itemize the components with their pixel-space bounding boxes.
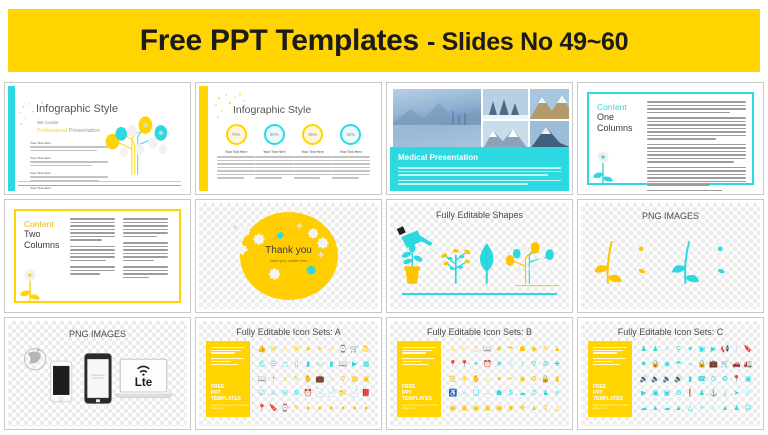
star-icon[interactable]: ✧ xyxy=(699,405,705,412)
camera-icon[interactable]: ◉ xyxy=(508,405,514,412)
slide-thumbnail-02[interactable]: Infographic Style 75% Your Text Here 60%… xyxy=(195,82,382,195)
megaphone-icon[interactable]: 📢 xyxy=(721,346,730,353)
png-flower-assets xyxy=(581,203,760,308)
slide-subtitle-line1: We Create xyxy=(37,120,58,125)
slide-title: Thank you xyxy=(265,245,312,256)
smiley-icon[interactable]: ● xyxy=(306,405,310,412)
thermometer-icon[interactable]: ☃ xyxy=(508,361,514,368)
slide-heading: Content One Columns xyxy=(597,102,633,134)
ground-line xyxy=(402,293,557,295)
mountain2-icon[interactable]: △ xyxy=(688,405,693,412)
gear-icon[interactable]: ⚙ xyxy=(293,390,299,397)
stat-item: 85% Your Text Here xyxy=(294,124,332,181)
glove-icon[interactable]: ✋ xyxy=(472,376,481,383)
panel-brand: FREE PPT TEMPLATES www.free-powerpoint-t… xyxy=(402,384,441,410)
youtube-icon[interactable]: ▣ xyxy=(496,405,503,412)
truck-icon[interactable]: 🚛 xyxy=(744,361,753,368)
briefcase-icon[interactable]: 💼 xyxy=(315,376,324,383)
smiley5-icon[interactable]: ● xyxy=(352,405,356,412)
rocky-peak-photo xyxy=(530,89,569,119)
cloud-icon[interactable]: ☁ xyxy=(640,405,647,412)
eye-icon[interactable]: ◉ xyxy=(531,346,537,353)
file-icon[interactable]: 📄 xyxy=(315,390,324,397)
server-icon[interactable]: ☰ xyxy=(270,361,276,368)
progress-ring: 85% xyxy=(302,124,323,145)
stat-caption: Your Text Here xyxy=(332,150,370,154)
brush2-icon[interactable]: ❑ xyxy=(473,390,479,397)
thumbs-up-icon[interactable]: 👍 xyxy=(257,346,266,353)
video2-icon[interactable]: ▣ xyxy=(652,390,659,397)
snowflake-icon[interactable]: ❄ xyxy=(461,376,467,383)
heading-line2: Two xyxy=(24,229,60,240)
potted-plant-icon xyxy=(401,244,424,284)
brand-line-3: TEMPLATES xyxy=(593,396,632,402)
heading-key: Content xyxy=(24,219,60,229)
cart2-icon[interactable]: 🛒 xyxy=(721,361,730,368)
cart-icon[interactable]: 🛒 xyxy=(350,346,359,353)
panel-caption xyxy=(593,347,627,367)
dollar-icon[interactable]: $ xyxy=(509,390,513,397)
speaker-icon[interactable]: 🔊 xyxy=(639,376,648,383)
pin-icon[interactable]: 📍 xyxy=(732,376,741,383)
body-column-left xyxy=(70,218,115,277)
slide-thumbnail-09[interactable]: PNG IMAGES xyxy=(4,317,191,430)
slide-thumbnail-11[interactable]: Fully Editable Icon Sets: B FREE PPT TEM… xyxy=(386,317,573,430)
pinterest-icon[interactable]: ▣ xyxy=(461,405,468,412)
flower-decoration xyxy=(590,149,616,183)
stat-item: 75% Your Text Here xyxy=(217,124,255,181)
smiley3-icon[interactable]: ● xyxy=(329,405,333,412)
atom-icon[interactable]: ⚛ xyxy=(554,390,560,397)
screenshot-root: Free PPT Templates - Slides No 49~60 xyxy=(0,0,768,435)
clock-icon[interactable]: ⏰ xyxy=(483,361,492,368)
infographic-tree-icon xyxy=(506,242,554,284)
umbrella-icon[interactable]: ☂ xyxy=(508,346,514,353)
icon-grid: 👍✉⌂✉➤☀☺⌚🛒🛍 ⎙☰◻▯▮▭▮📖▶▦ 📖✝♫✎✋💼♘⚲▦▣ ☑⚔✉⚙⏰📄📄… xyxy=(256,343,372,416)
flag2-icon[interactable]: ⚐ xyxy=(745,390,751,397)
lock-icon[interactable]: 🔒 xyxy=(541,376,550,383)
instagram-icon[interactable]: ▣ xyxy=(484,405,491,412)
scissors-icon[interactable]: ✂ xyxy=(508,376,514,383)
cap-icon[interactable]: ⚔ xyxy=(270,390,276,397)
smiley4-icon[interactable]: ● xyxy=(341,405,345,412)
phone-icon[interactable]: ☎ xyxy=(697,376,706,383)
file-alt-icon[interactable]: 📄 xyxy=(327,390,336,397)
watering-can-icon xyxy=(397,227,439,254)
list-item: Your Text Here xyxy=(30,141,108,151)
male-icon[interactable]: ♂ xyxy=(664,346,669,353)
battery-icon[interactable]: ▮ xyxy=(329,361,333,368)
brand-panel: FREE PPT TEMPLATES www.free-powerpoint-t… xyxy=(397,341,441,417)
slide-thumbnail-12[interactable]: Fully Editable Icon Sets: C FREE PPT TEM… xyxy=(577,317,764,430)
photo-icon[interactable]: ▣ xyxy=(363,376,370,383)
play-icon[interactable]: ▶ xyxy=(641,390,646,397)
book-icon[interactable]: 📖 xyxy=(339,361,348,368)
music-note-icon[interactable]: ♫ xyxy=(282,376,287,383)
linkedin-icon[interactable]: ▣ xyxy=(449,405,456,412)
slide-title: Medical Presentation xyxy=(398,153,478,162)
stat-caption: Your Text Here xyxy=(255,150,293,154)
lamp-icon[interactable]: ☼ xyxy=(461,390,467,397)
black-smartphone xyxy=(84,353,111,403)
cyan-flower-stem xyxy=(672,241,699,284)
panel-brand: FREE PPT TEMPLATES www.free-powerpoint-t… xyxy=(211,384,250,410)
slide-subtitle: Insert your subtitle here xyxy=(265,259,312,263)
brand-panel: FREE PPT TEMPLATES www.free-powerpoint-t… xyxy=(588,341,632,417)
image-icon[interactable]: ▣ xyxy=(664,390,671,397)
body-column xyxy=(647,101,746,191)
search-icon[interactable]: ⚲ xyxy=(340,376,345,383)
people-icon[interactable]: ♟ xyxy=(652,346,658,353)
smiley2-icon[interactable]: ● xyxy=(318,405,322,412)
slide-thumbnail-08[interactable]: PNG IMAGES xyxy=(577,199,764,312)
circle-icon[interactable]: ○ xyxy=(711,405,715,412)
progress-ring: 60% xyxy=(264,124,285,145)
printer-icon[interactable]: ⎙ xyxy=(259,361,265,368)
camera-icon[interactable]: ▣ xyxy=(698,346,705,353)
slide-thumbnail-04[interactable]: Content One Columns xyxy=(577,82,764,195)
brand-line-3: TEMPLATES xyxy=(211,396,250,402)
thank-you-block: Thank you Insert your subtitle here xyxy=(265,245,312,263)
mobile-icon[interactable]: ▮ xyxy=(306,361,310,368)
brand-line-3: TEMPLATES xyxy=(402,396,441,402)
banner-title-main: Free PPT Templates xyxy=(140,24,419,57)
globe-icon xyxy=(24,347,45,369)
shield-icon[interactable]: ☗ xyxy=(496,390,502,397)
open-mail-icon[interactable]: ✉ xyxy=(294,346,300,353)
rocket2-icon[interactable]: ⤷ xyxy=(688,361,692,368)
leafy-tree-icon xyxy=(440,249,471,284)
trophy2-icon[interactable]: ⌚ xyxy=(281,405,290,412)
stat-caption: Your Text Here xyxy=(217,150,255,154)
link-icon[interactable]: ↔ xyxy=(484,390,491,397)
heading-line3: Columns xyxy=(24,240,60,251)
caption-text xyxy=(398,167,561,187)
list-item-title: Your Text Here xyxy=(30,186,108,190)
run-icon[interactable]: ☹ xyxy=(745,405,752,412)
slide-thumbnail-01[interactable]: Infographic Style We Create Professional… xyxy=(4,82,191,195)
triangle-icon[interactable]: △ xyxy=(555,405,560,412)
rocket-icon[interactable]: ❖ xyxy=(641,361,647,368)
pin-icon[interactable]: 📍 xyxy=(257,405,266,412)
speaker2-icon[interactable]: 🔉 xyxy=(663,376,672,383)
clock-icon[interactable]: ⏰ xyxy=(304,390,313,397)
stat-row: 75% Your Text Here 60% Your Text Here 85… xyxy=(217,124,370,181)
slide-heading: Content Two Columns xyxy=(24,219,60,251)
battery-icon[interactable]: ▮ xyxy=(555,376,559,383)
cone-tree-icon xyxy=(480,243,494,284)
caption-band: Medical Presentation xyxy=(390,147,569,191)
person3-icon[interactable]: ♟ xyxy=(733,405,739,412)
slide-thumbnail-06[interactable]: Thank you Insert your subtitle here xyxy=(195,199,382,312)
list-item-title: Your Text Here xyxy=(30,141,108,145)
brand-url: www.free-powerpoint-templates-design.com xyxy=(211,404,250,410)
lake-mountain-photo xyxy=(393,89,481,149)
body-column-right xyxy=(123,218,168,280)
cloud-icon[interactable]: ☁ xyxy=(519,390,526,397)
microphone-icon[interactable]: ✉ xyxy=(282,390,288,397)
balloon-icon[interactable]: ☺ xyxy=(328,346,335,353)
slide-title: Fully Editable Icon Sets: C xyxy=(581,327,760,337)
recycle-icon[interactable]: ♻ xyxy=(722,376,728,383)
tree-icon[interactable]: ▲ xyxy=(554,346,561,353)
dark-mountain-photo xyxy=(530,121,569,149)
white-smartphone xyxy=(51,361,72,402)
car-icon[interactable]: 🚗 xyxy=(732,361,741,368)
subtitle-rest: Presentation xyxy=(69,128,100,134)
download-icon[interactable]: ⤓ xyxy=(723,390,726,397)
briefcase-icon[interactable]: 💼 xyxy=(709,361,718,368)
brand-url: www.free-powerpoint-templates-design.com xyxy=(402,404,441,410)
send-icon[interactable]: ➤ xyxy=(305,346,311,353)
grid-icon[interactable]: ▦ xyxy=(351,376,358,383)
banner-title-sub: - Slides No 49~60 xyxy=(427,28,628,56)
info-icon[interactable]: ❗ xyxy=(686,390,695,397)
laptop-screen-label: Lte xyxy=(135,376,153,389)
arrow-icon[interactable]: ↕ xyxy=(521,361,525,368)
timer-icon[interactable]: ⏱ xyxy=(711,376,716,383)
tree-icon[interactable]: ▲ xyxy=(652,405,659,412)
tag-icon[interactable]: ▶ xyxy=(352,361,357,368)
slide-thumbnail-07[interactable]: Fully Editable Shapes xyxy=(386,199,573,312)
shirt-icon[interactable]: ♘ xyxy=(328,376,334,383)
panel-caption xyxy=(211,347,245,367)
stat-item: 60% Your Text Here xyxy=(255,124,293,181)
target-icon[interactable]: ◉ xyxy=(519,376,525,383)
list-item: Your Text Here xyxy=(30,186,108,191)
flag-icon[interactable]: ⚐ xyxy=(461,346,467,353)
tools-icon[interactable]: ✝ xyxy=(270,376,276,383)
bag-icon[interactable]: 🛍 xyxy=(448,376,457,383)
folder-icon[interactable]: 📁 xyxy=(339,390,348,397)
checklist-icon[interactable]: ☑ xyxy=(259,390,265,397)
key-icon[interactable]: ⚲ xyxy=(543,405,548,412)
slide-title: Fully Editable Icon Sets: A xyxy=(199,327,378,337)
tree3-icon[interactable]: ▲ xyxy=(722,405,729,412)
book-icon[interactable]: 📖 xyxy=(483,346,492,353)
flask-icon[interactable]: ♿ xyxy=(448,390,457,397)
compass-icon[interactable]: ▵ xyxy=(451,346,455,353)
person-icon[interactable]: ♟ xyxy=(542,390,548,397)
timer-icon[interactable]: ⏱ xyxy=(531,390,536,397)
slide-thumbnail-05[interactable]: Content Two Columns xyxy=(4,199,191,312)
pencil-icon[interactable]: ✎ xyxy=(294,405,300,412)
flower-decoration xyxy=(17,267,43,301)
slide-grid: Infographic Style We Create Professional… xyxy=(4,82,764,430)
person2-icon[interactable]: ♟ xyxy=(699,390,705,397)
bone-icon[interactable]: ❖ xyxy=(496,346,502,353)
subtitle-highlight: Professional xyxy=(37,128,67,134)
accent-bar xyxy=(199,86,208,191)
progress-ring: 75% xyxy=(226,124,247,145)
phone-case-icon[interactable]: ▭ xyxy=(316,361,323,368)
balloon-icon[interactable]: ☗ xyxy=(519,346,525,353)
laptop: Lte xyxy=(114,359,172,398)
slide-thumbnail-03[interactable]: Medical Presentation xyxy=(386,82,573,195)
banner-title: Free PPT Templates - Slides No 49~60 xyxy=(140,24,628,58)
pin-icon[interactable]: 📍 xyxy=(448,361,457,368)
hand-icon[interactable]: ✋ xyxy=(304,376,313,383)
trophy-icon[interactable]: ⌚ xyxy=(339,346,348,353)
white-flower-cyan xyxy=(712,241,729,275)
yellow-flower-stem xyxy=(595,241,622,284)
lock-icon[interactable]: 🔒 xyxy=(651,361,660,368)
list-item-title: Your Text Here xyxy=(30,156,108,160)
plus-icon[interactable]: ✚ xyxy=(554,361,560,368)
snow-ridge-photo xyxy=(483,121,528,149)
slide-subtitle-line2: Professional Presentation xyxy=(37,128,100,134)
cloud2-icon[interactable]: ☁ xyxy=(663,405,670,412)
chain-icon[interactable]: ⚲ xyxy=(531,361,536,368)
panel-caption xyxy=(402,347,436,367)
header-banner: Free PPT Templates - Slides No 49~60 xyxy=(8,9,760,72)
pen-icon[interactable]: ✎ xyxy=(294,376,300,383)
heading-line3: Columns xyxy=(597,123,633,134)
globe-icon[interactable]: ◉ xyxy=(664,361,670,368)
icon-grid: ▵⚐▯📖❖☂☗◉✎▲ 📍📍☀⏰❄☃↕⚲⚙✚ 🛍❄✋⌂♥✂◉♻🔒▮ ♿☼❑↔☗$☁… xyxy=(447,343,563,416)
png-device-assets: Lte xyxy=(8,321,187,426)
map-icon[interactable]: ▣ xyxy=(745,376,752,383)
doc-icon[interactable]: 📄 xyxy=(350,390,359,397)
anchor-icon[interactable]: ⚓ xyxy=(709,390,718,397)
recycle-icon[interactable]: ♻ xyxy=(531,376,537,383)
white-flower-yellow xyxy=(632,241,649,275)
search-icon[interactable]: ⚲ xyxy=(676,346,681,353)
share-icon[interactable]: ➤ xyxy=(734,390,740,397)
heart-icon[interactable]: ♥ xyxy=(497,376,501,383)
stat-caption: Your Text Here xyxy=(294,150,332,154)
bulb-icon[interactable]: ☀ xyxy=(473,361,479,368)
slide-title: Fully Editable Icon Sets: B xyxy=(390,327,569,337)
heart-icon[interactable]: ♥ xyxy=(688,346,692,353)
facebook-icon[interactable]: ▣ xyxy=(473,405,480,412)
smiley6-icon[interactable]: ● xyxy=(364,405,368,412)
ticket-icon[interactable]: ▯ xyxy=(474,346,478,353)
heading-key: Content xyxy=(597,102,633,112)
location-icon[interactable]: 📍 xyxy=(460,361,469,368)
leaf-icon[interactable]: ❄ xyxy=(496,361,502,368)
shopping-bag-icon[interactable]: 🛍 xyxy=(362,346,371,353)
snow-trees-photo xyxy=(483,89,528,119)
gear-icon[interactable]: ⚙ xyxy=(675,390,681,397)
chart-icon[interactable]: ▦ xyxy=(363,361,370,368)
heading-line2: One xyxy=(597,112,633,123)
bullet-list: Your Text Here Your Text Here Your Text … xyxy=(30,141,108,191)
gear-icon[interactable]: ⚙ xyxy=(542,361,548,368)
brand-url: www.free-powerpoint-templates-design.com xyxy=(593,404,632,410)
icon-grid: ♟♟♂⚲♥▣▶📢❕🔖 ❖🔒◉☂⤷🔒💼🛒🚗🚛 🔊🔈🔉🔊▮☎⏱♻📍▣ ▶▣▣⚙❗♟⚓… xyxy=(638,343,754,416)
envelope-icon[interactable]: ✉ xyxy=(270,346,276,353)
monitor-icon[interactable]: ◻ xyxy=(282,361,288,368)
panel-brand: FREE PPT TEMPLATES www.free-powerpoint-t… xyxy=(593,384,632,410)
book2-icon[interactable]: 📕 xyxy=(362,390,371,397)
book-open-icon[interactable]: 📖 xyxy=(257,376,266,383)
tree2-icon[interactable]: ▲ xyxy=(531,405,538,412)
globe-icon[interactable]: ☀ xyxy=(317,346,323,353)
list-item: Your Text Here xyxy=(30,171,108,181)
tablet-icon[interactable]: ▯ xyxy=(295,361,299,368)
house-icon[interactable]: ⌂ xyxy=(485,376,489,383)
person-icon[interactable]: ♟ xyxy=(641,346,647,353)
stat-item: 30% Your Text Here xyxy=(332,124,370,181)
slide-title: Infographic Style xyxy=(233,104,311,116)
slide-title: Infographic Style xyxy=(36,103,118,115)
bookmark-icon[interactable]: 🔖 xyxy=(744,346,753,353)
mountain-icon[interactable]: ▲ xyxy=(675,405,682,412)
brush-icon[interactable]: ✎ xyxy=(543,346,549,353)
lock2-icon[interactable]: 🔒 xyxy=(697,361,706,368)
brand-panel: FREE PPT TEMPLATES www.free-powerpoint-t… xyxy=(206,341,250,417)
list-item: Your Text Here xyxy=(30,156,108,166)
alert-icon[interactable]: ❕ xyxy=(732,346,741,353)
umbrella-icon[interactable]: ☂ xyxy=(675,361,681,368)
slide-thumbnail-10[interactable]: Fully Editable Icon Sets: A FREE PPT TEM… xyxy=(195,317,382,430)
bookmark-icon[interactable]: 🔖 xyxy=(269,405,278,412)
signal-icon[interactable]: ✥ xyxy=(519,405,525,412)
battery-icon[interactable]: ▮ xyxy=(688,376,692,383)
progress-ring: 30% xyxy=(340,124,361,145)
volume-icon[interactable]: 🔈 xyxy=(651,376,660,383)
list-item-title: Your Text Here xyxy=(30,171,108,175)
home-icon[interactable]: ⌂ xyxy=(283,346,287,353)
volume2-icon[interactable]: 🔊 xyxy=(674,376,683,383)
video-icon[interactable]: ▶ xyxy=(711,346,716,353)
